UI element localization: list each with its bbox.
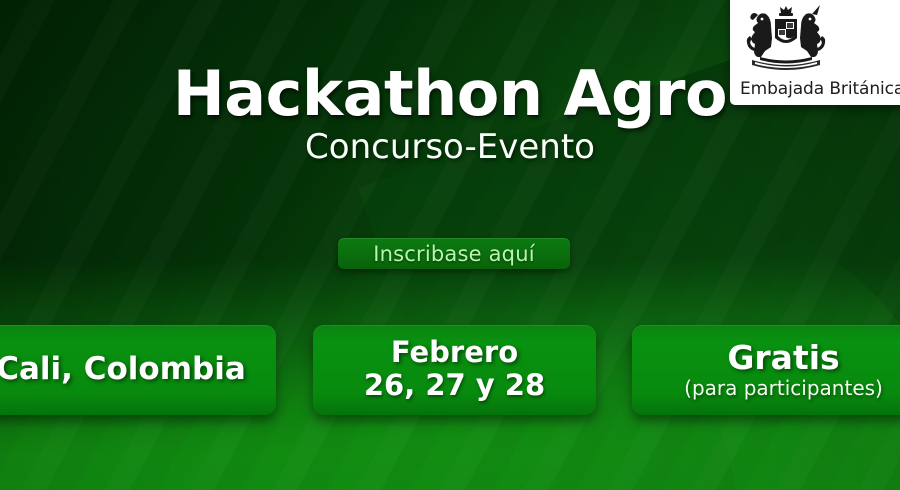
info-card-price-note: (para participantes) <box>684 376 883 400</box>
info-card-location: Cali, Colombia <box>0 325 276 415</box>
royal-coat-of-arms-icon <box>738 2 834 72</box>
embassy-logo-caption: Embajada Británica <box>740 79 900 99</box>
register-button[interactable]: Inscribase aquí <box>338 238 570 269</box>
event-banner: Hackathon Agro Concurso-Evento Inscribas… <box>0 0 900 490</box>
register-button-label: Inscribase aquí <box>373 242 535 266</box>
info-card-price: Gratis (para participantes) <box>632 325 900 415</box>
info-card-dates: Febrero 26, 27 y 28 <box>313 325 596 415</box>
info-card-location-main: Cali, Colombia <box>0 353 246 386</box>
info-card-price-main: Gratis <box>727 340 839 376</box>
page-subtitle: Concurso-Evento <box>0 129 900 166</box>
embassy-logo-panel: Embajada Británica <box>730 0 900 105</box>
info-card-dates-month: Febrero <box>391 337 518 368</box>
info-card-dates-days: 26, 27 y 28 <box>364 368 545 403</box>
